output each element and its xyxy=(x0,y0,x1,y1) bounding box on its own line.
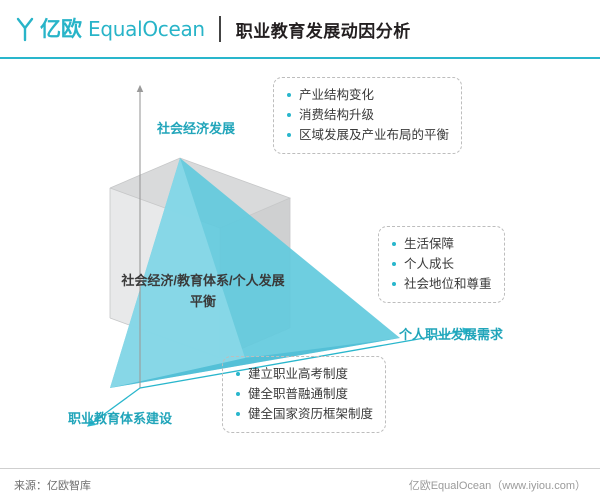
list-item: 产业结构变化 xyxy=(286,85,449,105)
callout-voced: 建立职业高考制度 健全职普融通制度 健全国家资历框架制度 xyxy=(222,356,386,433)
callout-macro-list: 产业结构变化 消费结构升级 区域发展及产业布局的平衡 xyxy=(286,85,449,145)
brand-logo: 亿欧 EqualOcean xyxy=(0,16,205,42)
page-header: 亿欧 EqualOcean 职业教育发展动因分析 xyxy=(0,0,600,58)
list-item: 健全职普融通制度 xyxy=(235,384,373,404)
axis-label-personal: 个人职业发展需求 xyxy=(399,324,503,343)
page-title: 职业教育发展动因分析 xyxy=(236,17,411,42)
list-item: 社会地位和尊重 xyxy=(391,274,492,294)
callout-macro: 产业结构变化 消费结构升级 区域发展及产业布局的平衡 xyxy=(273,77,462,154)
center-label: 社会经济/教育体系/个人发展 平衡 xyxy=(83,270,323,312)
axis-label-macro: 社会经济发展 xyxy=(157,118,235,137)
list-item: 区域发展及产业布局的平衡 xyxy=(286,125,449,145)
list-item: 个人成长 xyxy=(391,254,492,274)
callout-personal-list: 生活保障 个人成长 社会地位和尊重 xyxy=(391,234,492,294)
center-label-line1: 社会经济/教育体系/个人发展 xyxy=(83,270,323,291)
list-item: 消费结构升级 xyxy=(286,105,449,125)
page-footer: 来源：亿欧智库 亿欧EqualOcean（www.iyiou.com） xyxy=(0,469,600,500)
callout-voced-list: 建立职业高考制度 健全职普融通制度 健全国家资历框架制度 xyxy=(235,364,373,424)
list-item: 健全国家资历框架制度 xyxy=(235,404,373,424)
header-divider xyxy=(219,16,221,42)
brand-name-en: EqualOcean xyxy=(88,19,205,39)
footer-source: 来源：亿欧智库 xyxy=(14,477,91,493)
list-item: 生活保障 xyxy=(391,234,492,254)
center-label-line2: 平衡 xyxy=(83,291,323,312)
list-item: 建立职业高考制度 xyxy=(235,364,373,384)
callout-personal: 生活保障 个人成长 社会地位和尊重 xyxy=(378,226,505,303)
footer-credit: 亿欧EqualOcean（www.iyiou.com） xyxy=(409,477,586,493)
axis-label-voced: 职业教育体系建设 xyxy=(68,408,172,427)
logo-mark-icon xyxy=(16,16,34,42)
brand-name-cn: 亿欧 xyxy=(40,19,82,40)
diagram-canvas: 社会经济发展 个人职业发展需求 职业教育体系建设 社会经济/教育体系/个人发展 … xyxy=(0,58,600,468)
